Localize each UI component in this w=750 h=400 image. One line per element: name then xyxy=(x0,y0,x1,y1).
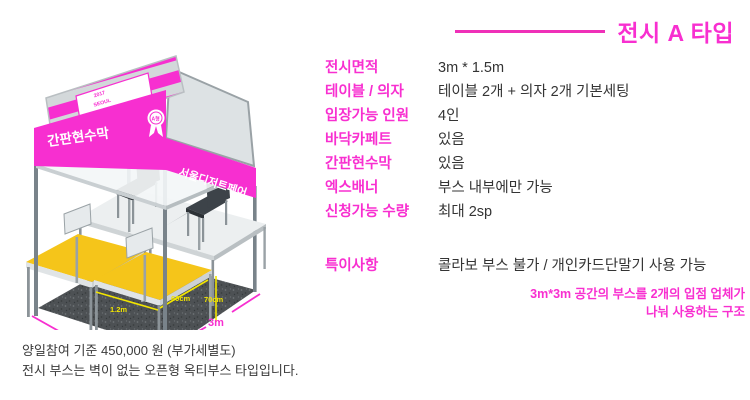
spec-note-value: 콜라보 부스 불가 / 개인카드단말기 사용 가능 xyxy=(438,254,706,275)
spec-label: 신청가능 수량 xyxy=(325,200,438,221)
page-title-bar: 전시 A 타입 xyxy=(455,14,734,48)
spec-row: 바닥카페트 있음 xyxy=(325,128,745,152)
spec-row: 엑스배너 부스 내부에만 가능 xyxy=(325,176,745,200)
spec-row: 테이블 / 의자 테이블 2개 + 의자 2개 기본세팅 xyxy=(325,80,745,104)
spec-sub-note: 3m*3m 공간의 부스를 2개의 입점 업체가 나눠 사용하는 구조 xyxy=(325,285,745,321)
sub-note-line-2: 나눠 사용하는 구조 xyxy=(325,303,745,321)
spec-value: 부스 내부에만 가능 xyxy=(438,176,553,197)
spec-value: 최대 2sp xyxy=(438,200,492,221)
spec-label: 바닥카페트 xyxy=(325,128,438,149)
spec-note-label: 특이사항 xyxy=(325,254,438,275)
footnote-line-1: 양일참여 기준 450,000 원 (부가세별도) xyxy=(22,341,298,361)
label-table-depth: 60cm xyxy=(171,294,191,303)
label-table-height: 70cm xyxy=(204,295,224,304)
spec-value: 3m * 1.5m xyxy=(438,60,504,76)
booth-illustration: 1.2m 60cm 70cm 3m 3m xyxy=(8,40,318,330)
footnote: 양일참여 기준 450,000 원 (부가세별도) 전시 부스는 벽이 없는 오… xyxy=(22,341,298,381)
spec-list: 전시면적 3m * 1.5m 테이블 / 의자 테이블 2개 + 의자 2개 기… xyxy=(325,56,745,278)
spec-row: 전시면적 3m * 1.5m xyxy=(325,56,745,80)
spec-value: 있음 xyxy=(438,128,465,149)
spec-value: 있음 xyxy=(438,152,465,173)
spec-label: 엑스배너 xyxy=(325,176,438,197)
spec-label: 입장가능 인원 xyxy=(325,104,438,125)
spec-label: 테이블 / 의자 xyxy=(325,80,438,101)
award-badge-text: A형 xyxy=(152,115,161,122)
spec-row: 신청가능 수량 최대 2sp xyxy=(325,200,745,224)
spec-row: 간판현수막 있음 xyxy=(325,152,745,176)
spec-label: 전시면적 xyxy=(325,56,438,77)
title-rule xyxy=(455,30,605,33)
spec-label: 간판현수막 xyxy=(325,152,438,173)
footnote-line-2: 전시 부스는 벽이 없는 오픈형 옥티부스 타입입니다. xyxy=(22,361,298,381)
spec-row-note: 특이사항 콜라보 부스 불가 / 개인카드단말기 사용 가능 xyxy=(325,254,745,278)
label-table-width: 1.2m xyxy=(110,305,127,314)
sub-note-line-1: 3m*3m 공간의 부스를 2개의 입점 업체가 xyxy=(325,285,745,303)
spec-value: 4인 xyxy=(438,104,459,125)
page-title: 전시 A 타입 xyxy=(617,14,734,48)
spec-value: 테이블 2개 + 의자 2개 기본세팅 xyxy=(438,80,629,101)
spec-row: 입장가능 인원 4인 xyxy=(325,104,745,128)
label-floor-side: 3m xyxy=(208,317,224,329)
